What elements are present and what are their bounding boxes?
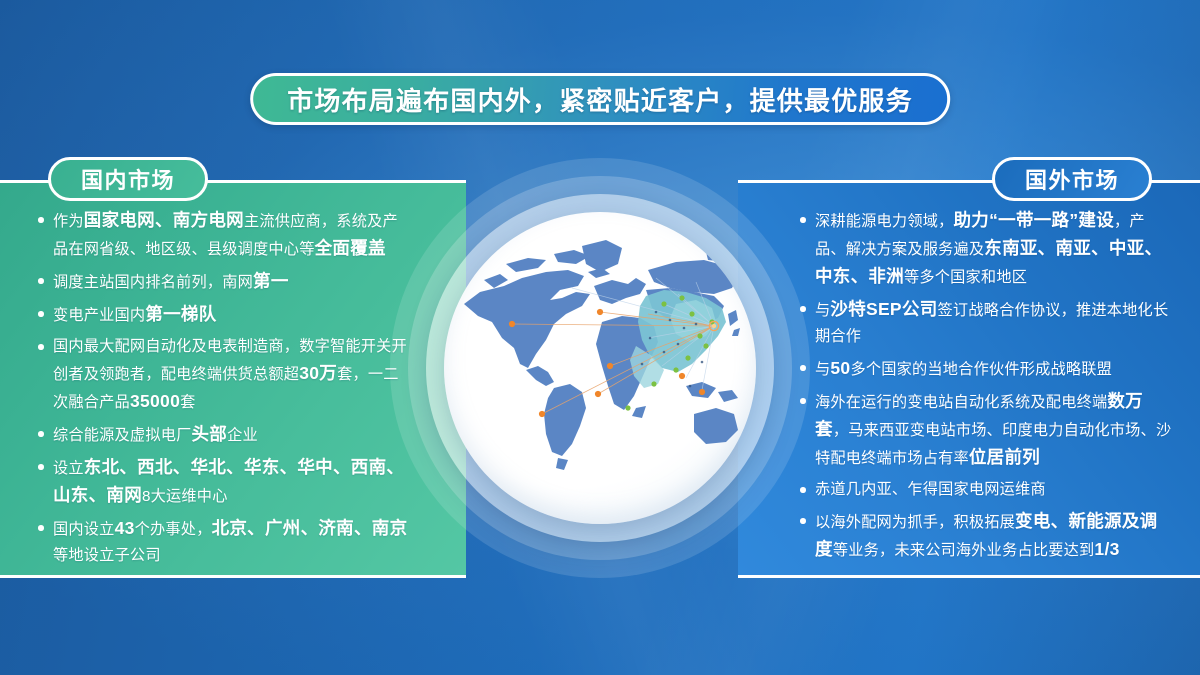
domestic-bullet-4-run-4: 35000 <box>130 391 180 411</box>
slide-title-pill: 市场布局遍布国内外，紧密贴近客户，提供最优服务 <box>250 73 950 125</box>
badge-overseas-market: 国外市场 <box>992 157 1152 201</box>
domestic-bullet-7-run-2: 43 <box>115 518 135 538</box>
globe-core <box>444 212 756 524</box>
domestic-bullet-5-run-2: 头部 <box>192 424 228 444</box>
overseas-bullet-5-run-1: 赤道几内亚、乍得国家电网运维商 <box>815 481 1046 498</box>
overseas-bullet-3-run-3: 多个国家的当地合作伙件形成战略联盟 <box>850 361 1112 378</box>
domestic-bullet-1-run-2: 国家电网、南方电网 <box>84 210 244 230</box>
domestic-bullet-1-run-4: 全面覆盖 <box>315 238 386 258</box>
slide-root: 市场布局遍布国内外，紧密贴近客户，提供最优服务 <box>0 0 1200 675</box>
domestic-bullet-4: 国内最大配网自动化及电表制造商，数字智能开关开创者及领跑者，配电终端供货总额超3… <box>36 334 410 416</box>
domestic-bullet-4-run-5: 套 <box>180 394 195 411</box>
overseas-bullet-2-run-1: 与 <box>815 302 830 319</box>
hub-center <box>712 324 716 328</box>
overseas-bullet-6-run-1: 以海外配网为抓手，积极拓展 <box>815 514 1015 531</box>
domestic-bullet-3-run-2: 第一梯队 <box>145 304 216 324</box>
overseas-bullet-1-run-1: 深耕能源电力领域， <box>815 213 954 230</box>
badge-overseas-label: 国外市场 <box>1025 163 1119 195</box>
domestic-bullet-2: 调度主站国内排名前列，南网第一 <box>36 268 410 296</box>
domestic-bullet-5: 综合能源及虚拟电厂头部企业 <box>36 421 410 449</box>
city-dots <box>641 311 704 388</box>
overseas-bullet-2: 与沙特SEP公司签订战略合作协议，推进本地化长期合作 <box>798 296 1172 350</box>
domestic-bullet-7-run-3: 个办事处， <box>135 521 212 538</box>
overseas-bullet-3: 与50多个国家的当地合作伙件形成战略联盟 <box>798 355 1172 383</box>
route-lines <box>512 312 714 414</box>
overseas-bullet-1: 深耕能源电力领域，助力“一带一路”建设，产品、解决方案及服务遍及东南亚、南亚、中… <box>798 207 1172 291</box>
overseas-markers <box>509 309 705 417</box>
overseas-bullet-1-run-2: 助力“一带一路”建设 <box>954 210 1115 230</box>
overseas-bullet-6-run-4: 1/3 <box>1094 539 1119 559</box>
domestic-bullet-2-run-1: 调度主站国内排名前列，南网 <box>53 274 253 291</box>
overseas-bullet-3-run-1: 与 <box>815 361 830 378</box>
domestic-bullet-7: 国内设立43个办事处，北京、广州、济南、南京等地设立子公司 <box>36 515 410 569</box>
globe-inner-ring <box>426 194 774 542</box>
badge-domestic-market: 国内市场 <box>48 157 208 201</box>
overseas-bullet-4-run-1: 海外在运行的变电站自动化系统及配电终端 <box>815 394 1107 411</box>
china-highlight <box>630 290 726 388</box>
overseas-bullet-6: 以海外配网为抓手，积极拓展变电、新能源及调度等业务，未来公司海外业务占比要达到1… <box>798 508 1172 564</box>
domestic-bullet-5-run-1: 综合能源及虚拟电厂 <box>53 427 192 444</box>
domestic-bullet-6: 设立东北、西北、华北、华东、华中、西南、山东、南网8大运维中心 <box>36 454 410 510</box>
domestic-market-list: 作为国家电网、南方电网主流供应商，系统及产品在网省级、地区级、县级调度中心等全面… <box>36 207 410 574</box>
domestic-bullet-5-run-3: 企业 <box>227 427 258 444</box>
domestic-bullet-3-run-1: 变电产业国内 <box>53 307 145 324</box>
badge-domestic-label: 国内市场 <box>81 163 175 195</box>
overseas-market-list: 深耕能源电力领域，助力“一带一路”建设，产品、解决方案及服务遍及东南亚、南亚、中… <box>798 207 1172 569</box>
overseas-bullet-5: 赤道几内亚、乍得国家电网运维商 <box>798 477 1172 503</box>
domestic-bullet-1: 作为国家电网、南方电网主流供应商，系统及产品在网省级、地区级、县级调度中心等全面… <box>36 207 410 263</box>
domestic-bullet-7-run-4: 北京、广州、济南、南京 <box>212 518 408 538</box>
world-landmasses <box>464 240 748 470</box>
domestic-bullet-7-run-1: 国内设立 <box>53 521 115 538</box>
domestic-bullet-6-run-3: 8大运维中心 <box>142 488 228 505</box>
hub-ring <box>709 321 718 330</box>
domestic-bullet-1-run-1: 作为 <box>53 213 84 230</box>
domestic-bullet-6-run-2: 东北、西北、华北、华东、华中、西南、山东、南网 <box>53 457 404 505</box>
domestic-bullet-7-run-5: 等地设立子公司 <box>53 547 161 564</box>
domestic-bullet-6-run-1: 设立 <box>53 460 84 477</box>
page-title: 市场布局遍布国内外，紧密贴近客户，提供最优服务 <box>287 81 913 118</box>
overseas-bullet-2-run-2: 沙特SEP公司 <box>830 299 937 319</box>
world-map-svg <box>450 218 750 518</box>
domestic-bullet-3: 变电产业国内第一梯队 <box>36 301 410 329</box>
overseas-bullet-6-run-3: 等业务，未来公司海外业务占比要达到 <box>833 542 1095 559</box>
route-lines-secondary <box>572 278 714 390</box>
domestic-bullet-2-run-2: 第一 <box>253 271 289 291</box>
overseas-bullet-1-run-5: 等多个国家和地区 <box>904 269 1027 286</box>
overseas-bullet-4: 海外在运行的变电站自动化系统及配电终端数万套，马来西亚变电站市场、印度电力自动化… <box>798 388 1172 472</box>
domestic-bullet-4-run-2: 30万 <box>299 363 337 383</box>
overseas-bullet-3-run-2: 50 <box>830 358 850 378</box>
overseas-bullet-4-run-4: 位居前列 <box>969 447 1040 467</box>
domestic-markers <box>625 295 714 410</box>
